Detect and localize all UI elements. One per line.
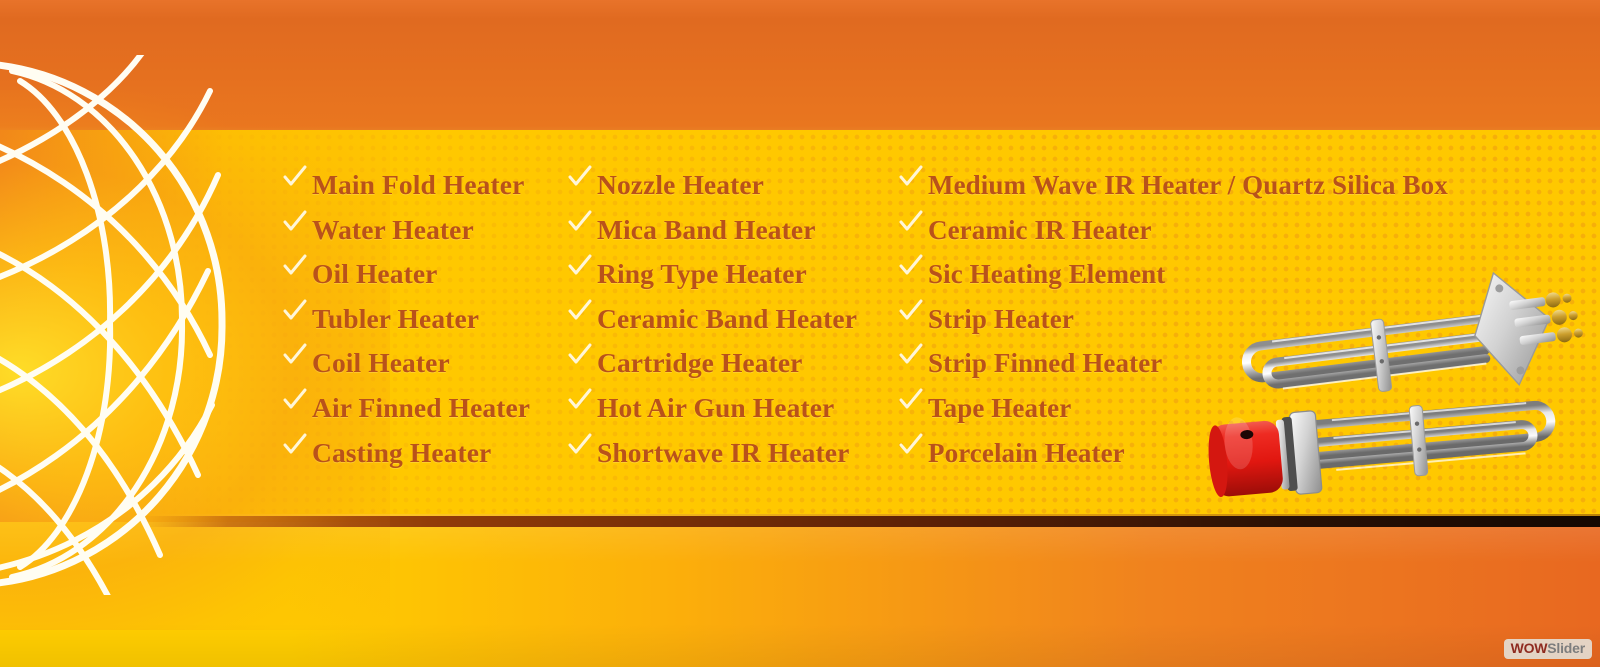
list-item-label: Medium Wave IR Heater / Quartz Silica Bo…: [928, 170, 1448, 201]
check-icon: [282, 253, 312, 279]
list-item-label: Strip Finned Heater: [928, 348, 1162, 379]
check-icon: [898, 209, 928, 235]
list-item[interactable]: Casting Heater: [282, 436, 530, 481]
list-item[interactable]: Ceramic IR Heater: [898, 213, 1448, 258]
list-item-label: Shortwave IR Heater: [597, 437, 849, 469]
list-item[interactable]: Hot Air Gun Heater: [567, 391, 857, 436]
list-column-3: Medium Wave IR Heater / Quartz Silica Bo…: [898, 168, 1448, 480]
list-item-label: Tubler Heater: [312, 303, 479, 335]
check-icon: [282, 209, 312, 235]
promo-banner: Main Fold Heater Water Heater Oil Heater…: [0, 0, 1600, 667]
list-item[interactable]: Oil Heater: [282, 257, 530, 302]
list-item-label: Ceramic IR Heater: [928, 215, 1152, 246]
list-item-label: Strip Heater: [928, 304, 1074, 335]
check-icon: [898, 253, 928, 279]
check-icon: [282, 164, 312, 190]
check-icon: [567, 298, 597, 324]
list-item-label: Casting Heater: [312, 437, 491, 469]
check-icon: [567, 342, 597, 368]
list-item-label: Mica Band Heater: [597, 214, 816, 246]
list-item[interactable]: Mica Band Heater: [567, 213, 857, 258]
list-item[interactable]: Shortwave IR Heater: [567, 436, 857, 481]
list-item[interactable]: Water Heater: [282, 213, 530, 258]
list-item[interactable]: Porcelain Heater: [898, 436, 1448, 481]
check-icon: [898, 432, 928, 458]
check-icon: [898, 342, 928, 368]
check-icon: [282, 298, 312, 324]
check-icon: [567, 253, 597, 279]
watermark-wow-text: WOW: [1511, 640, 1548, 656]
list-item-label: Tape Heater: [928, 393, 1071, 424]
check-icon: [567, 164, 597, 190]
wowslider-watermark[interactable]: WOWSlider: [1504, 639, 1592, 659]
list-item[interactable]: Ceramic Band Heater: [567, 302, 857, 347]
check-icon: [898, 164, 928, 190]
list-item[interactable]: Ring Type Heater: [567, 257, 857, 302]
list-item-label: Water Heater: [312, 214, 474, 246]
check-icon: [282, 387, 312, 413]
list-item[interactable]: Nozzle Heater: [567, 168, 857, 213]
list-item-label: Sic Heating Element: [928, 259, 1165, 290]
list-item-label: Coil Heater: [312, 347, 450, 379]
list-item[interactable]: Strip Heater: [898, 302, 1448, 347]
check-icon: [898, 387, 928, 413]
list-item[interactable]: Cartridge Heater: [567, 346, 857, 391]
check-icon: [282, 432, 312, 458]
list-item-label: Porcelain Heater: [928, 438, 1125, 469]
list-item[interactable]: Air Finned Heater: [282, 391, 530, 436]
list-item-label: Main Fold Heater: [312, 169, 524, 201]
list-item-label: Nozzle Heater: [597, 169, 764, 201]
watermark-slider-text: Slider: [1547, 640, 1585, 656]
list-item[interactable]: Medium Wave IR Heater / Quartz Silica Bo…: [898, 168, 1448, 213]
list-column-2: Nozzle Heater Mica Band Heater Ring Type…: [567, 168, 857, 480]
list-item[interactable]: Sic Heating Element: [898, 257, 1448, 302]
list-item[interactable]: Main Fold Heater: [282, 168, 530, 213]
check-icon: [898, 298, 928, 324]
check-icon: [282, 342, 312, 368]
list-item-label: Ring Type Heater: [597, 258, 807, 290]
heater-product-lists: Main Fold Heater Water Heater Oil Heater…: [0, 0, 1600, 667]
list-item[interactable]: Coil Heater: [282, 346, 530, 391]
list-item[interactable]: Tubler Heater: [282, 302, 530, 347]
list-item[interactable]: Strip Finned Heater: [898, 346, 1448, 391]
list-column-1: Main Fold Heater Water Heater Oil Heater…: [282, 168, 530, 480]
check-icon: [567, 387, 597, 413]
list-item[interactable]: Tape Heater: [898, 391, 1448, 436]
list-item-label: Ceramic Band Heater: [597, 303, 857, 335]
check-icon: [567, 209, 597, 235]
list-item-label: Hot Air Gun Heater: [597, 392, 834, 424]
list-item-label: Cartridge Heater: [597, 347, 802, 379]
list-item-label: Oil Heater: [312, 258, 437, 290]
list-item-label: Air Finned Heater: [312, 392, 530, 424]
check-icon: [567, 432, 597, 458]
